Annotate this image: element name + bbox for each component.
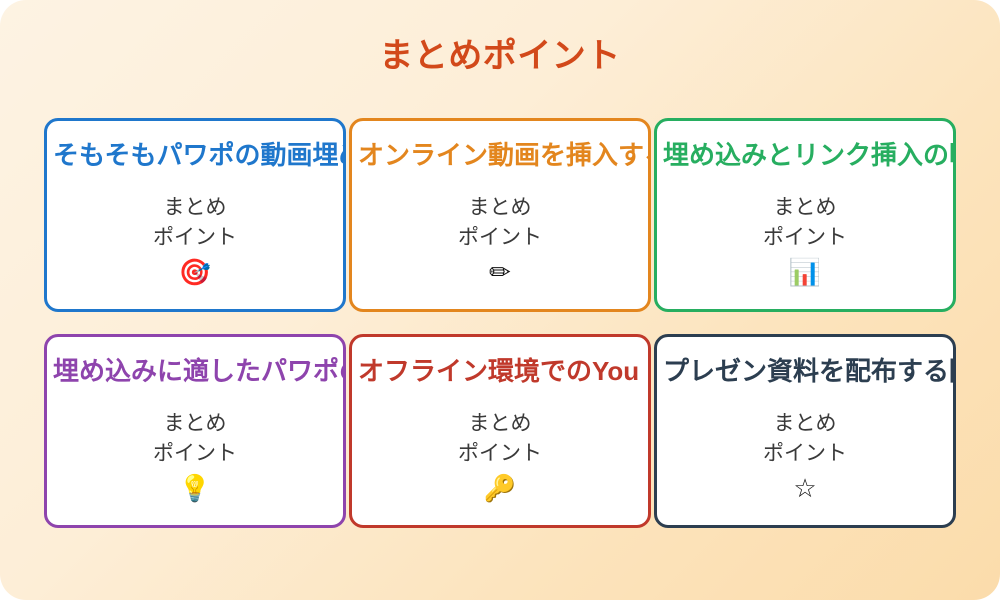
page-title: まとめポイント (0, 28, 1000, 77)
card-body: まとめ ポイント (352, 409, 648, 470)
summary-card[interactable]: 埋め込みに適したパワポの まとめ ポイント 💡 (44, 334, 346, 528)
summary-points-slide: まとめポイント そもそもパワポの動画埋め まとめ ポイント 🎯 オンライン動画を… (0, 0, 1000, 600)
card-body-line-2: ポイント (352, 439, 648, 469)
card-body-line-2: ポイント (657, 223, 953, 253)
card-body-line-1: まとめ (657, 409, 953, 439)
card-title: そもそもパワポの動画埋め (53, 141, 346, 170)
card-title: プレゼン資料を配布する際 (663, 357, 956, 386)
card-title: 埋め込みに適したパワポの (53, 357, 346, 386)
card-title: オンライン動画を挿入する (358, 141, 651, 170)
card-title: オフライン環境でのYou (358, 357, 651, 386)
card-body-line-1: まとめ (352, 409, 648, 439)
pencil-icon: ✏ (352, 259, 648, 285)
card-body-line-2: ポイント (47, 439, 343, 469)
bar-chart-icon: 📊 (657, 259, 953, 285)
summary-card-grid: そもそもパワポの動画埋め まとめ ポイント 🎯 オンライン動画を挿入する まとめ… (44, 118, 956, 528)
target-icon: 🎯 (47, 259, 343, 285)
key-icon: 🔑 (352, 475, 648, 501)
card-body-line-1: まとめ (352, 193, 648, 223)
card-body: まとめ ポイント (352, 193, 648, 254)
card-body: まとめ ポイント (657, 409, 953, 470)
card-body-line-1: まとめ (47, 193, 343, 223)
summary-card[interactable]: オフライン環境でのYou まとめ ポイント 🔑 (349, 334, 651, 528)
summary-card[interactable]: 埋め込みとリンク挿入の明 まとめ ポイント 📊 (654, 118, 956, 312)
lightbulb-icon: 💡 (47, 475, 343, 501)
star-icon: ☆ (657, 475, 953, 501)
card-body: まとめ ポイント (657, 193, 953, 254)
card-body: まとめ ポイント (47, 193, 343, 254)
summary-card[interactable]: プレゼン資料を配布する際 まとめ ポイント ☆ (654, 334, 956, 528)
card-body-line-2: ポイント (657, 439, 953, 469)
card-body: まとめ ポイント (47, 409, 343, 470)
card-title: 埋め込みとリンク挿入の明 (663, 141, 956, 170)
summary-card[interactable]: オンライン動画を挿入する まとめ ポイント ✏ (349, 118, 651, 312)
card-body-line-2: ポイント (47, 223, 343, 253)
summary-card[interactable]: そもそもパワポの動画埋め まとめ ポイント 🎯 (44, 118, 346, 312)
card-body-line-2: ポイント (352, 223, 648, 253)
card-body-line-1: まとめ (657, 193, 953, 223)
card-body-line-1: まとめ (47, 409, 343, 439)
